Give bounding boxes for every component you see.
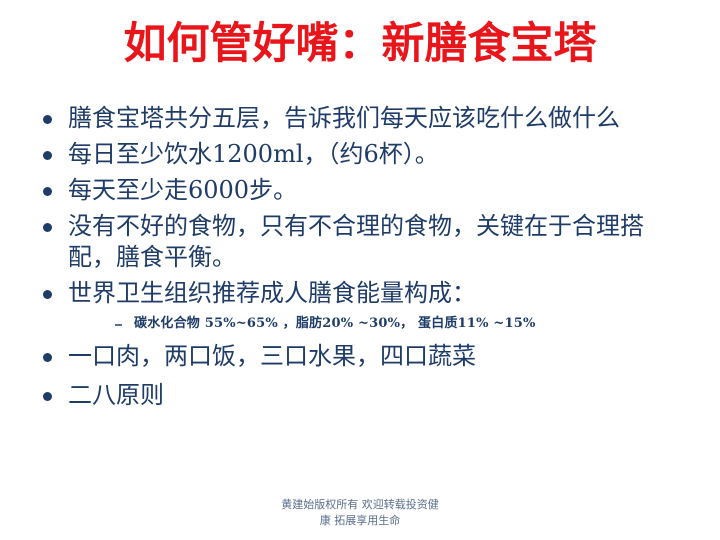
bullet-dot-icon: [43, 187, 52, 196]
list-item: 世界卫生组织推荐成人膳食能量构成： 碳水化合物 55%~65% ，脂肪20% ~…: [30, 278, 690, 335]
list-item-label: 世界卫生组织推荐成人膳食能量构成：: [68, 278, 690, 309]
list-item: 没有不好的食物，只有不合理的食物，关键在于合理搭配，膳食平衡。: [30, 211, 690, 273]
list-item: 每日至少饮水1200ml，（约6杯）。: [30, 139, 690, 170]
list-item: 每天至少走6000步。: [30, 175, 690, 206]
bullet-dot-icon: [43, 115, 52, 124]
list-item: 一口肉，两口饭，三口水果，四口蔬菜: [30, 341, 690, 372]
list-item-label: 每日至少饮水1200ml，（约6杯）。: [68, 139, 690, 170]
list-item-label: 膳食宝塔共分五层，告诉我们每天应该吃什么做什么: [68, 103, 690, 134]
list-item-label: 没有不好的食物，只有不合理的食物，关键在于合理搭配，膳食平衡。: [68, 211, 690, 273]
footer-copyright: 黄建始版权所有 欢迎转载投资健 康 拓展享用生命: [0, 497, 720, 529]
bullet-dot-icon: [43, 353, 52, 362]
bullet-list-container: 膳食宝塔共分五层，告诉我们每天应该吃什么做什么 每日至少饮水1200ml，（约6…: [30, 103, 690, 414]
page-title: 如何管好嘴：新膳食宝塔: [0, 16, 720, 72]
list-item: 二八原则: [30, 380, 690, 411]
slide-canvas: 如何管好嘴：新膳食宝塔 膳食宝塔共分五层，告诉我们每天应该吃什么做什么 每日至少…: [0, 0, 720, 540]
bullet-dot-icon: [43, 290, 52, 299]
bullet-dot-icon: [43, 392, 52, 401]
sub-list-item-label: 碳水化合物 55%~65% ，脂肪20% ~30%， 蛋白质11% ~15%: [134, 316, 536, 331]
bullet-list: 膳食宝塔共分五层，告诉我们每天应该吃什么做什么 每日至少饮水1200ml，（约6…: [30, 103, 690, 411]
sub-bullet-list: 碳水化合物 55%~65% ，脂肪20% ~30%， 蛋白质11% ~15%: [68, 313, 690, 335]
list-item-label: 二八原则: [68, 380, 690, 411]
list-item-label: 一口肉，两口饭，三口水果，四口蔬菜: [68, 341, 690, 372]
list-item: 膳食宝塔共分五层，告诉我们每天应该吃什么做什么: [30, 103, 690, 134]
bullet-dot-icon: [43, 151, 52, 160]
footer-line-2: 康 拓展享用生命: [0, 513, 720, 529]
dash-icon: [115, 324, 122, 326]
sub-list-item: 碳水化合物 55%~65% ，脂肪20% ~30%， 蛋白质11% ~15%: [68, 313, 690, 335]
footer-line-1: 黄建始版权所有 欢迎转载投资健: [0, 497, 720, 513]
bullet-dot-icon: [43, 223, 52, 232]
list-item-label: 每天至少走6000步。: [68, 175, 690, 206]
